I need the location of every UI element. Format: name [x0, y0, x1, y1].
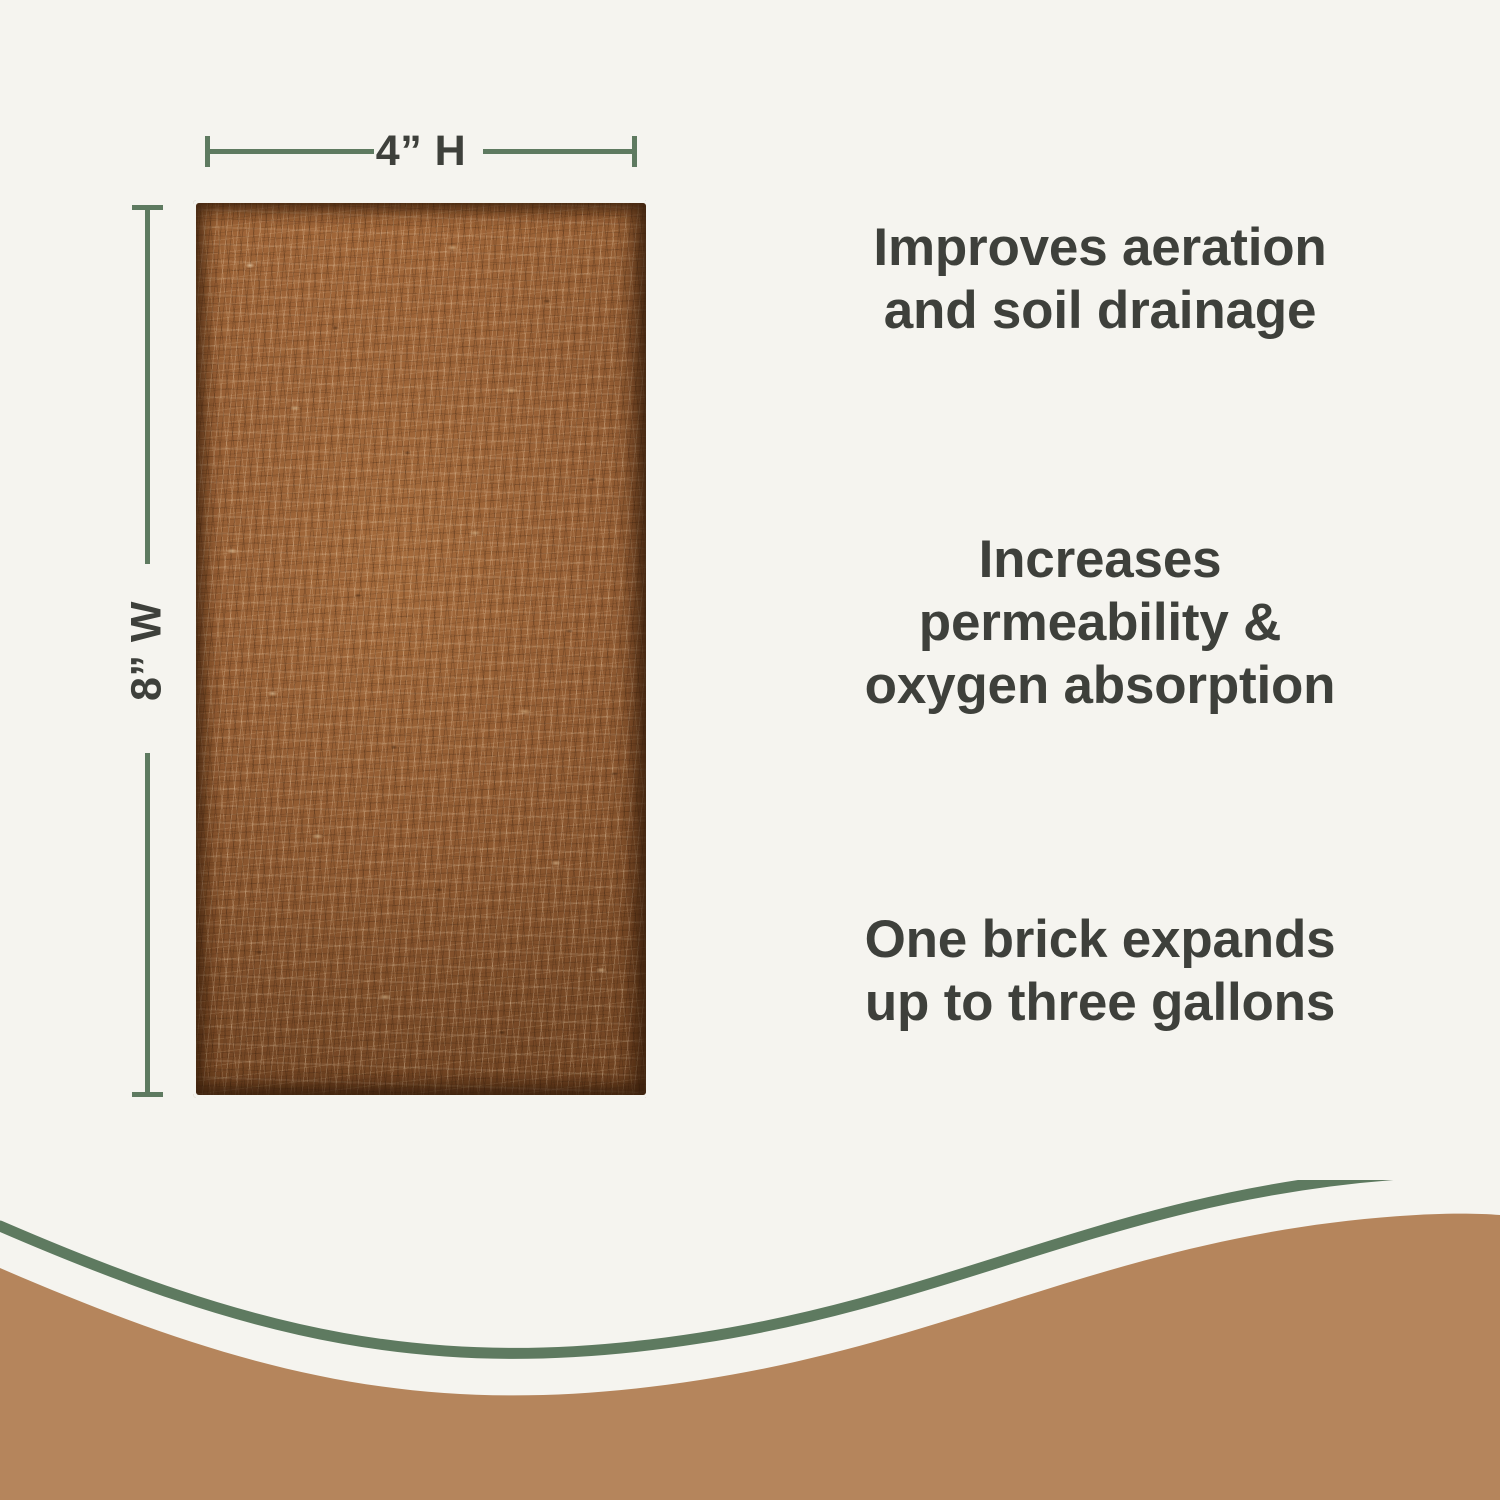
dimension-label-height: 4” H [205, 125, 637, 177]
feature-line: permeability & [700, 591, 1500, 654]
feature-permeability-oxygen: Increases permeability & oxygen absorpti… [700, 528, 1500, 717]
feature-list: Improves aeration and soil drainage Incr… [700, 0, 1500, 1160]
dimension-rule-bottom [145, 753, 150, 1093]
feature-expansion-volume: One brick expands up to three gallons [700, 908, 1500, 1034]
dimension-label-width: 8” W [123, 601, 172, 701]
feature-line: Improves aeration [700, 216, 1500, 279]
feature-line: and soil drainage [700, 279, 1500, 342]
product-infographic: 4” H 8” W Improves aeration and soil dra… [0, 0, 1500, 1500]
feature-line: One brick expands [700, 908, 1500, 971]
feature-line: Increases [700, 528, 1500, 591]
dimension-cap-bottom [132, 1092, 163, 1097]
dimension-vertical: 8” W [124, 205, 170, 1097]
coco-coir-brick-image [196, 203, 646, 1095]
dimension-horizontal: 4” H [205, 128, 637, 174]
soil-wave-divider [0, 1180, 1500, 1500]
feature-line: oxygen absorption [700, 654, 1500, 717]
feature-line: up to three gallons [700, 971, 1500, 1034]
soil-fill-shape [0, 1214, 1500, 1500]
feature-aeration-drainage: Improves aeration and soil drainage [700, 216, 1500, 342]
dimension-rule-top [145, 209, 150, 564]
